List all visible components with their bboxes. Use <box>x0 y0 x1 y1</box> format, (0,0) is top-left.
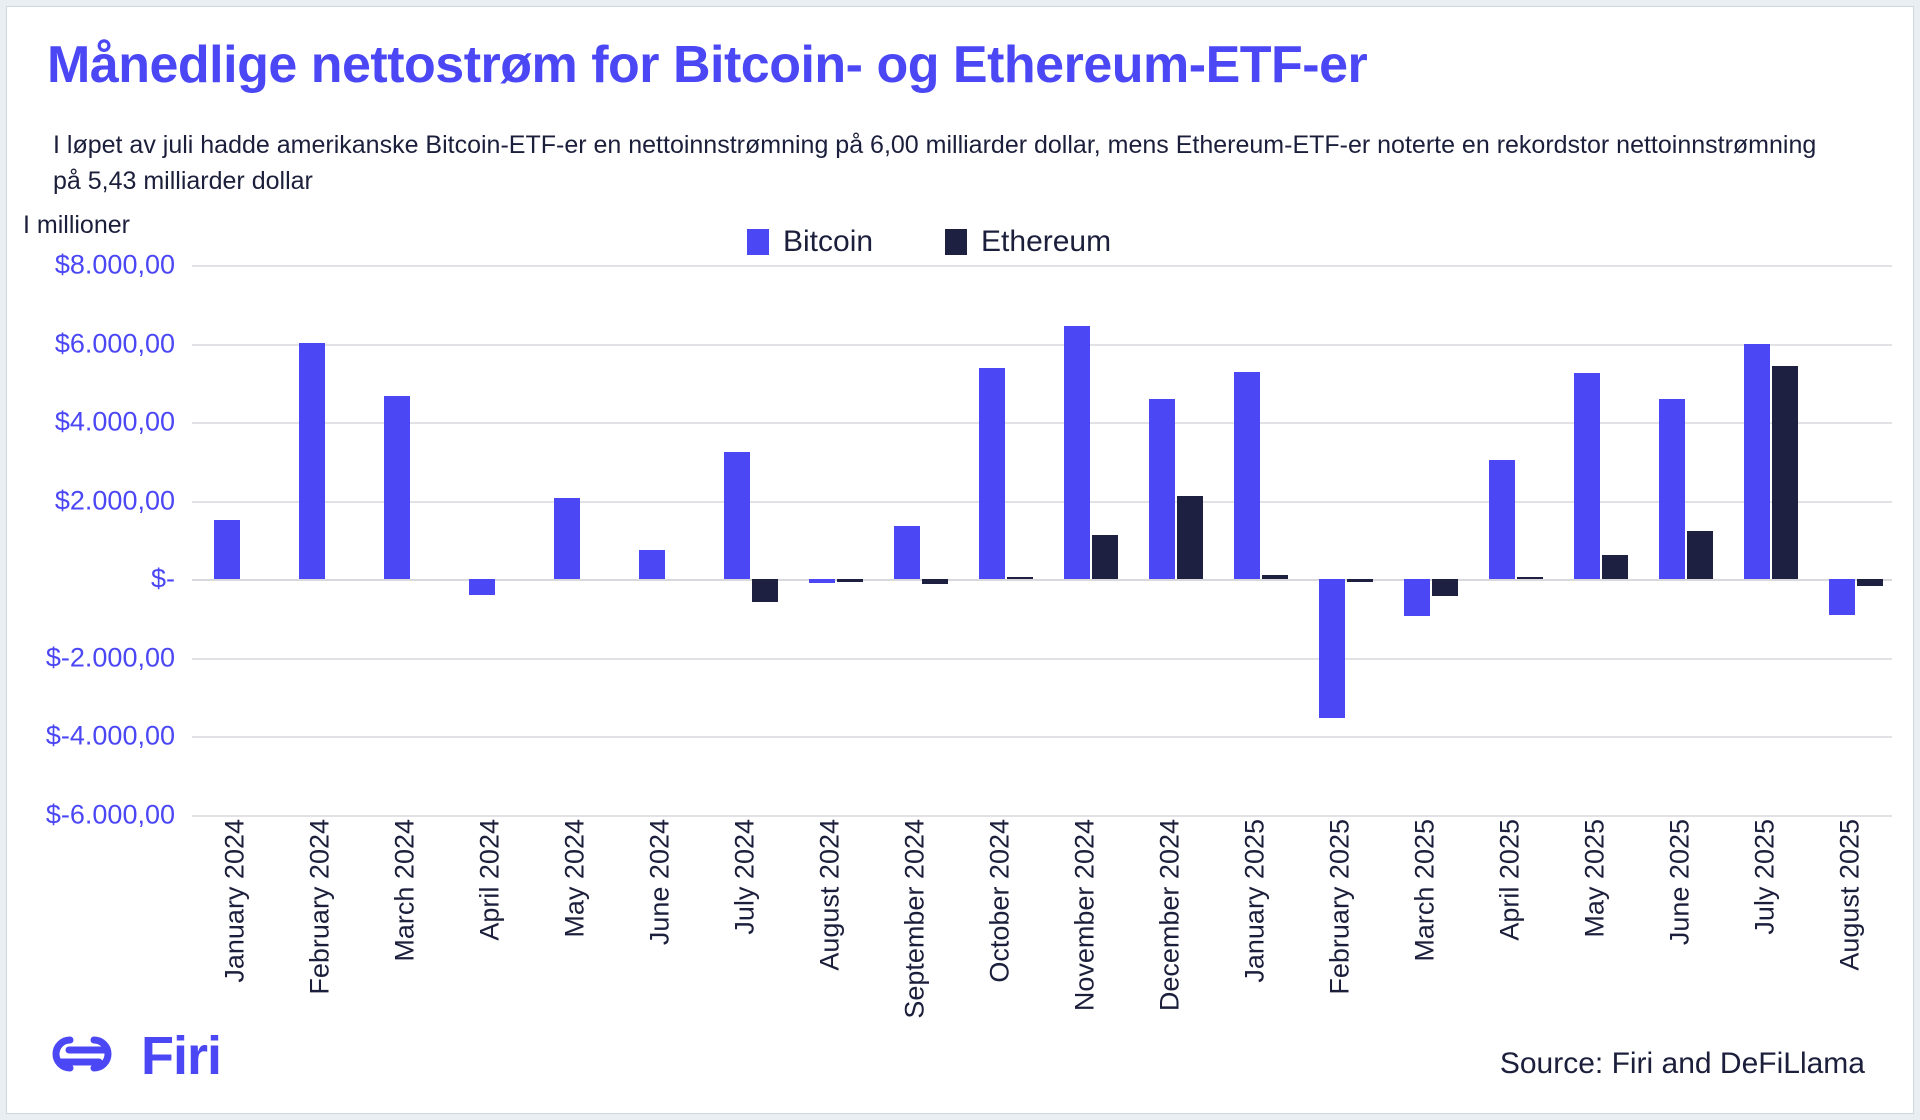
bar-ethereum[interactable] <box>1007 577 1033 579</box>
brand-logo: Firi <box>39 1025 221 1087</box>
bar-group[interactable] <box>532 265 617 815</box>
x-axis-tick: October 2024 <box>957 819 1042 1014</box>
bar-ethereum[interactable] <box>1602 555 1628 579</box>
bar-group[interactable] <box>957 265 1042 815</box>
bar-group[interactable] <box>1637 265 1722 815</box>
bar-ethereum[interactable] <box>1517 577 1543 579</box>
x-axis-tick: July 2024 <box>702 819 787 1014</box>
x-axis-tick-label: April 2024 <box>474 819 505 941</box>
x-axis: January 2024February 2024March 2024April… <box>192 819 1892 1014</box>
bar-bitcoin[interactable] <box>1234 372 1260 579</box>
bar-ethereum[interactable] <box>1687 531 1713 579</box>
y-axis-tick-label: $2.000,00 <box>55 485 175 516</box>
x-axis-tick: September 2024 <box>872 819 957 1014</box>
y-axis-tick-label: $4.000,00 <box>55 407 175 438</box>
x-axis-tick-label: December 2024 <box>1154 819 1185 1011</box>
x-axis-tick-label: July 2024 <box>729 819 760 935</box>
bar-bitcoin[interactable] <box>979 368 1005 579</box>
bar-bitcoin[interactable] <box>1319 579 1345 718</box>
x-axis-tick: May 2024 <box>532 819 617 1014</box>
x-axis-tick-label: March 2024 <box>389 819 420 962</box>
bar-bitcoin[interactable] <box>554 498 580 580</box>
bar-ethereum[interactable] <box>837 579 863 581</box>
bar-bitcoin[interactable] <box>1404 579 1430 616</box>
firi-infinity-logo-icon <box>39 1026 125 1087</box>
x-axis-tick-label: July 2025 <box>1749 819 1780 935</box>
x-axis-tick: August 2025 <box>1807 819 1892 1014</box>
bar-group[interactable] <box>277 265 362 815</box>
bar-ethereum[interactable] <box>1262 575 1288 579</box>
chart-subtitle: I løpet av juli hadde amerikanske Bitcoi… <box>53 127 1843 199</box>
bar-bitcoin[interactable] <box>1829 579 1855 614</box>
x-axis-tick-label: February 2024 <box>304 819 335 995</box>
bar-group[interactable] <box>1212 265 1297 815</box>
x-axis-tick-label: May 2025 <box>1579 819 1610 938</box>
bar-ethereum[interactable] <box>1177 496 1203 579</box>
bars-layer <box>192 265 1892 815</box>
x-axis-tick: June 2024 <box>617 819 702 1014</box>
y-axis-tick-label: $6.000,00 <box>55 328 175 359</box>
bar-bitcoin[interactable] <box>724 452 750 579</box>
x-axis-tick: December 2024 <box>1127 819 1212 1014</box>
bar-bitcoin[interactable] <box>299 343 325 580</box>
x-axis-tick-label: June 2024 <box>644 819 675 945</box>
bar-group[interactable] <box>1807 265 1892 815</box>
y-axis-tick-label: $- <box>151 564 175 595</box>
legend-swatch-icon <box>747 229 769 255</box>
bar-bitcoin[interactable] <box>384 396 410 579</box>
x-axis-tick-label: September 2024 <box>899 819 930 1019</box>
bar-bitcoin[interactable] <box>1744 344 1770 580</box>
bar-group[interactable] <box>1382 265 1467 815</box>
x-axis-tick: August 2024 <box>787 819 872 1014</box>
x-axis-tick-label: January 2025 <box>1239 819 1270 983</box>
bar-ethereum[interactable] <box>922 579 948 583</box>
y-axis-unit-label: I millioner <box>23 211 130 240</box>
bar-group[interactable] <box>1127 265 1212 815</box>
bar-bitcoin[interactable] <box>214 520 240 579</box>
bar-bitcoin[interactable] <box>1064 326 1090 579</box>
page-title: Månedlige nettostrøm for Bitcoin- og Eth… <box>47 35 1847 95</box>
y-axis: $8.000,00$6.000,00$4.000,00$2.000,00$-$-… <box>7 265 185 815</box>
x-axis-tick: February 2025 <box>1297 819 1382 1014</box>
y-axis-tick-label: $-6.000,00 <box>46 800 175 831</box>
x-axis-tick: March 2025 <box>1382 819 1467 1014</box>
legend-item-ethereum[interactable]: Ethereum <box>945 225 1111 259</box>
brand-name: Firi <box>141 1025 221 1087</box>
bar-ethereum[interactable] <box>752 579 778 601</box>
x-axis-tick-label: August 2024 <box>814 819 845 971</box>
x-axis-tick: November 2024 <box>1042 819 1127 1014</box>
bar-group[interactable] <box>1552 265 1637 815</box>
x-axis-tick-label: March 2025 <box>1409 819 1440 962</box>
legend-swatch-icon <box>945 229 967 255</box>
bar-bitcoin[interactable] <box>1574 373 1600 580</box>
chart-legend: BitcoinEthereum <box>747 225 1111 259</box>
x-axis-tick-label: October 2024 <box>984 819 1015 983</box>
bar-group[interactable] <box>1297 265 1382 815</box>
x-axis-tick: March 2024 <box>362 819 447 1014</box>
bar-bitcoin[interactable] <box>809 579 835 583</box>
y-axis-tick-label: $-4.000,00 <box>46 721 175 752</box>
x-axis-tick-label: May 2024 <box>559 819 590 938</box>
bar-ethereum[interactable] <box>1857 579 1883 586</box>
bar-group[interactable] <box>702 265 787 815</box>
bar-ethereum[interactable] <box>1772 366 1798 579</box>
x-axis-tick: July 2025 <box>1722 819 1807 1014</box>
bar-group[interactable] <box>787 265 872 815</box>
y-axis-tick-label: $-2.000,00 <box>46 642 175 673</box>
bar-group[interactable] <box>192 265 277 815</box>
legend-label: Bitcoin <box>783 225 873 259</box>
bar-group[interactable] <box>1722 265 1807 815</box>
bar-group[interactable] <box>362 265 447 815</box>
y-axis-tick-label: $8.000,00 <box>55 250 175 281</box>
plot-area <box>192 265 1892 815</box>
x-axis-tick: February 2024 <box>277 819 362 1014</box>
x-axis-tick-label: June 2025 <box>1664 819 1695 945</box>
bar-group[interactable] <box>617 265 702 815</box>
x-axis-tick: May 2025 <box>1552 819 1637 1014</box>
bar-bitcoin[interactable] <box>639 550 665 579</box>
bar-group[interactable] <box>872 265 957 815</box>
x-axis-tick-label: April 2025 <box>1494 819 1525 941</box>
x-axis-tick-label: February 2025 <box>1324 819 1355 995</box>
bar-ethereum[interactable] <box>1347 579 1373 582</box>
bar-bitcoin[interactable] <box>894 526 920 579</box>
x-axis-tick: April 2025 <box>1467 819 1552 1014</box>
bar-ethereum[interactable] <box>1432 579 1458 596</box>
chart-card: Månedlige nettostrøm for Bitcoin- og Eth… <box>6 6 1914 1114</box>
bar-ethereum[interactable] <box>1092 535 1118 580</box>
bar-bitcoin[interactable] <box>469 579 495 595</box>
bar-group[interactable] <box>1042 265 1127 815</box>
legend-label: Ethereum <box>981 225 1111 259</box>
source-note: Source: Firi and DeFiLlama <box>1500 1047 1865 1081</box>
gridline <box>192 815 1892 817</box>
x-axis-tick-label: January 2024 <box>219 819 250 983</box>
x-axis-tick: January 2024 <box>192 819 277 1014</box>
x-axis-tick: January 2025 <box>1212 819 1297 1014</box>
x-axis-tick-label: August 2025 <box>1834 819 1865 971</box>
bar-bitcoin[interactable] <box>1489 460 1515 579</box>
x-axis-tick: June 2025 <box>1637 819 1722 1014</box>
legend-item-bitcoin[interactable]: Bitcoin <box>747 225 873 259</box>
bar-group[interactable] <box>447 265 532 815</box>
x-axis-tick: April 2024 <box>447 819 532 1014</box>
bar-bitcoin[interactable] <box>1149 399 1175 580</box>
bar-group[interactable] <box>1467 265 1552 815</box>
x-axis-tick-label: November 2024 <box>1069 819 1100 1011</box>
bar-bitcoin[interactable] <box>1659 399 1685 579</box>
